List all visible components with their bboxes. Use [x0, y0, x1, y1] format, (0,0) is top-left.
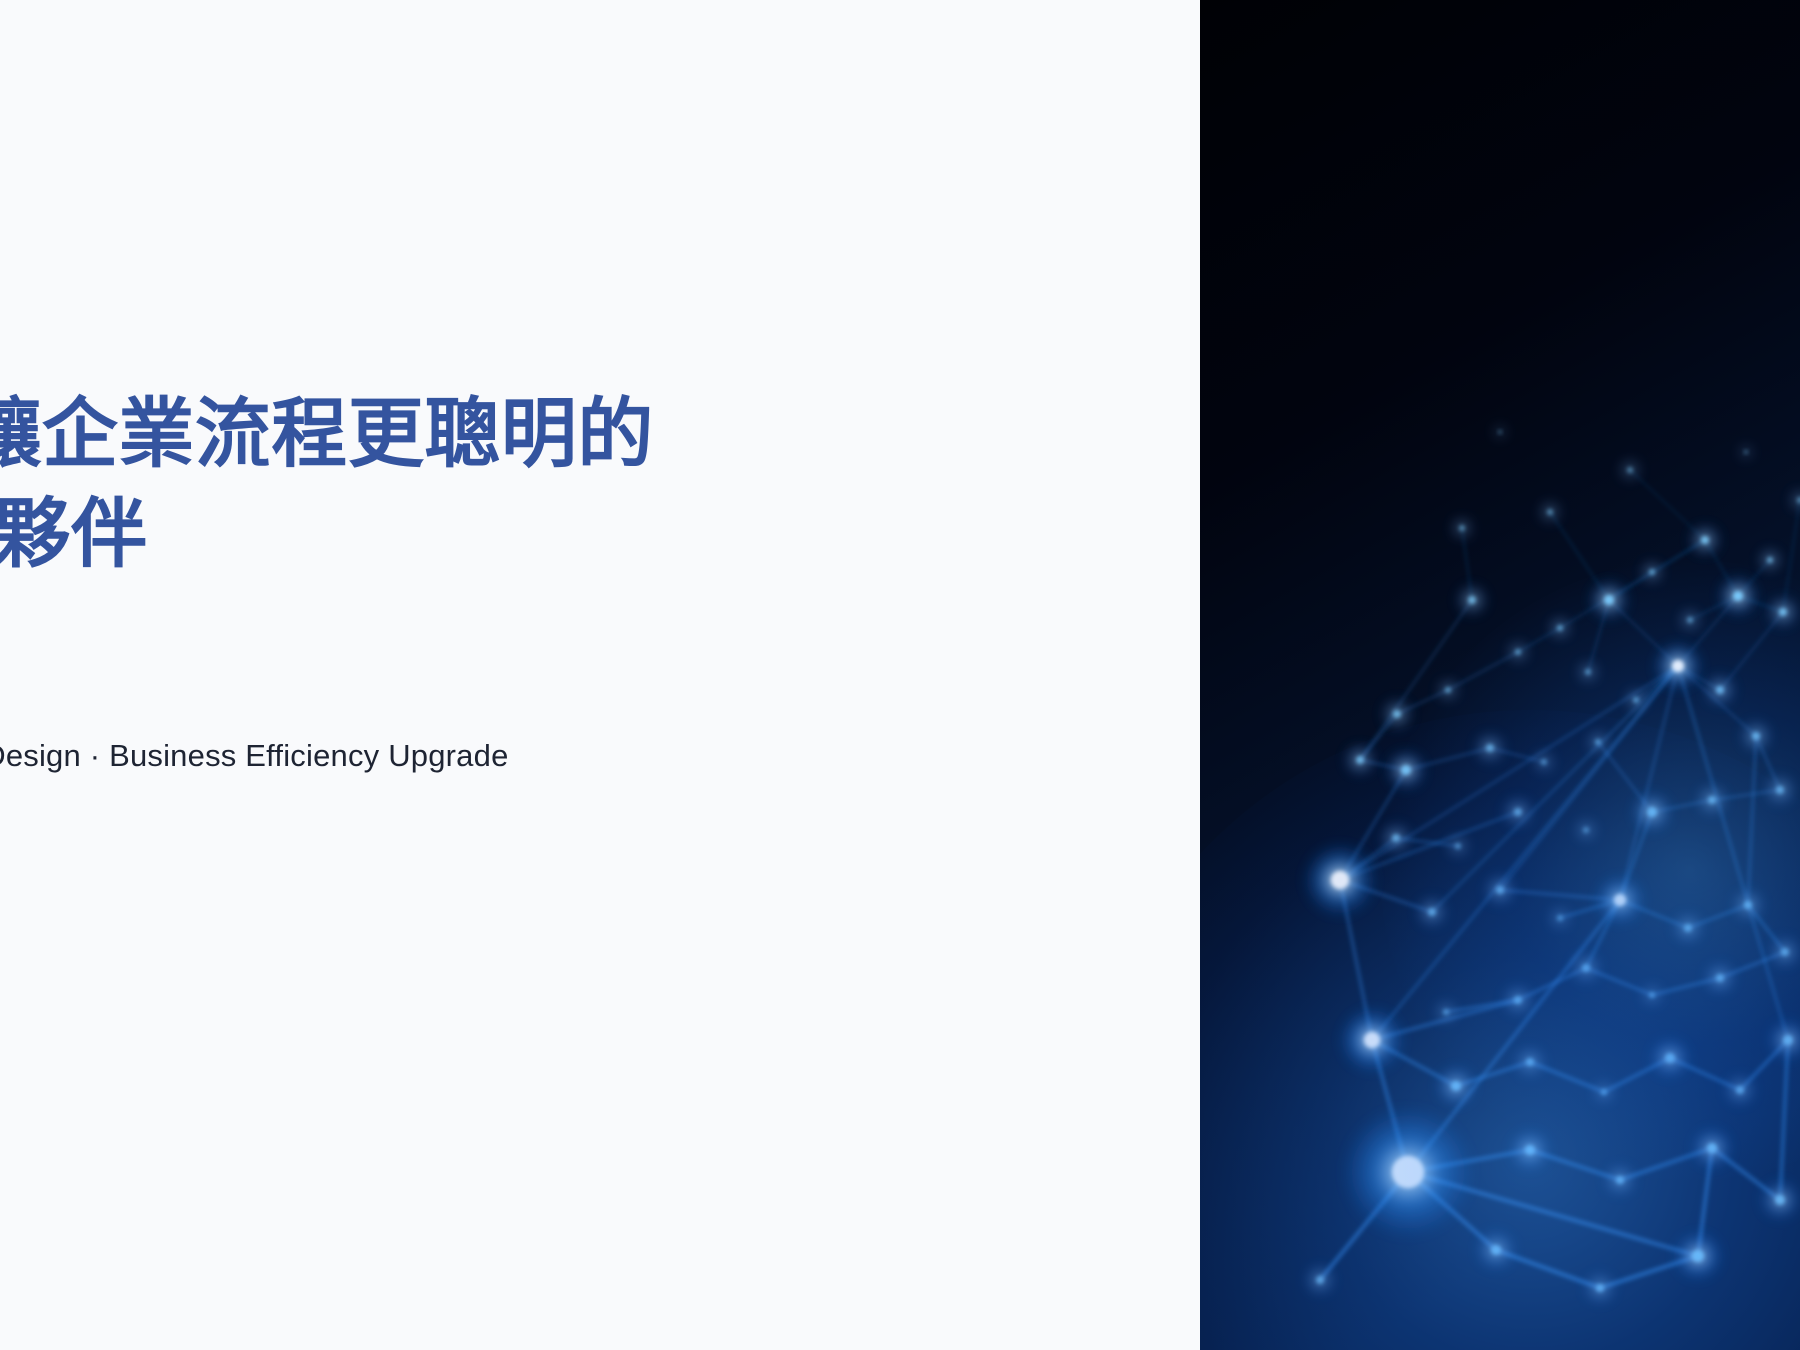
page-title: oAI｜讓企業流程更聰明的 自動化夥伴 [0, 385, 1065, 586]
hero-text-panel: oAI｜讓企業流程更聰明的 自動化夥伴 tion · Workflow Desi… [0, 0, 1200, 1350]
hero-subtitle: tion · Workflow Design · Business Effici… [0, 738, 509, 774]
network-constellation-graphic [1200, 0, 1800, 1350]
cover-slide: oAI｜讓企業流程更聰明的 自動化夥伴 tion · Workflow Desi… [0, 0, 1800, 1350]
hero-visual-panel [1200, 0, 1800, 1350]
hero-text-content: oAI｜讓企業流程更聰明的 自動化夥伴 tion · Workflow Desi… [0, 0, 1065, 1350]
